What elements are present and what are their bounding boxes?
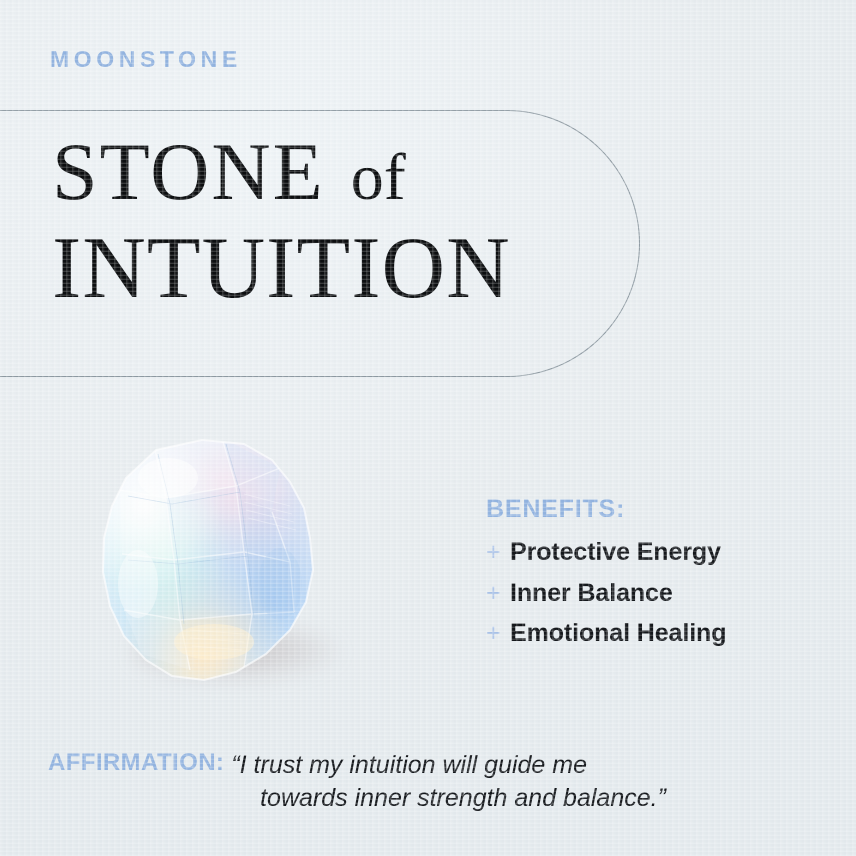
affirmation-quote-line-1: “I trust my intuition will guide me (231, 751, 587, 779)
benefit-item: + Inner Balance (486, 576, 826, 611)
page-title: STONEof INTUITION (52, 132, 612, 313)
benefits-section: BENEFITS: + Protective Energy + Inner Ba… (486, 497, 826, 657)
category-eyebrow: MOONSTONE (50, 48, 242, 71)
title-line-2: INTUITION (52, 226, 612, 312)
affirmation-section: AFFIRMATION:“I trust my intuition will g… (48, 749, 818, 816)
affirmation-quote-line-2: towards inner strength and balance.” (48, 782, 818, 815)
title-line-1: STONEof (52, 132, 612, 212)
benefit-label: Inner Balance (510, 576, 673, 611)
moonstone-image (88, 428, 338, 703)
affirmation-first-line: AFFIRMATION:“I trust my intuition will g… (48, 749, 818, 782)
plus-icon: + (486, 616, 510, 651)
plus-icon: + (486, 535, 510, 570)
title-connector-word: of (351, 141, 406, 214)
affirmation-label: AFFIRMATION: (48, 749, 224, 776)
benefit-label: Emotional Healing (510, 616, 726, 651)
moonstone-info-card: MOONSTONE STONEof INTUITION (0, 0, 856, 856)
benefit-item: + Emotional Healing (486, 616, 826, 651)
benefits-heading: BENEFITS: (486, 497, 826, 522)
benefit-label: Protective Energy (510, 535, 721, 570)
benefit-item: + Protective Energy (486, 535, 826, 570)
title-main-word: STONE (52, 126, 325, 217)
plus-icon: + (486, 576, 510, 611)
moonstone-crystal-icon (94, 434, 322, 688)
